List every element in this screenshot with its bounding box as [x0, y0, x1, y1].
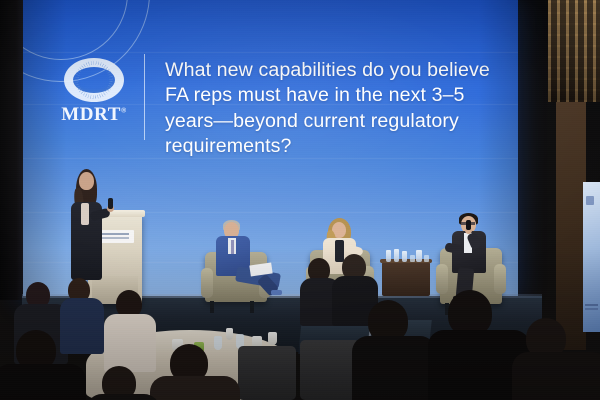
panelist-left: [214, 222, 276, 304]
audience-chair: [300, 340, 360, 400]
audience-member: [104, 290, 156, 368]
foreground-audience-member: [512, 318, 600, 400]
side-screen-logo-mark: [586, 196, 594, 205]
foreground-audience-member: [86, 366, 156, 400]
water-bottle-icon: [386, 250, 391, 262]
drinking-glass-icon: [410, 255, 415, 262]
napkin-icon: [226, 328, 233, 340]
right-wall-panel: [556, 100, 586, 350]
foreground-audience-member: [0, 330, 82, 400]
secondary-display-screen-icon: [583, 182, 600, 332]
water-bottle-icon: [416, 250, 422, 262]
foreground-audience-member: [150, 344, 236, 400]
panel-side-table: [382, 262, 430, 296]
napkin-icon: [268, 332, 277, 345]
water-bottle-icon: [402, 251, 407, 262]
drinking-glass-icon: [424, 255, 429, 262]
foreground-audience-member: [428, 290, 524, 400]
water-bottle-icon: [394, 249, 399, 262]
left-dark-pillar: [0, 0, 23, 300]
conference-photo: MDRT® What new capabilities do you belie…: [0, 0, 600, 400]
handheld-microphone-icon: [466, 220, 471, 230]
audience-chair: [238, 346, 296, 400]
architectural-lattice-screen-icon: [548, 0, 600, 102]
foreground-audience-member: [352, 300, 432, 400]
handheld-microphone-icon: [108, 198, 113, 209]
side-screen-text-lines: [585, 304, 598, 306]
